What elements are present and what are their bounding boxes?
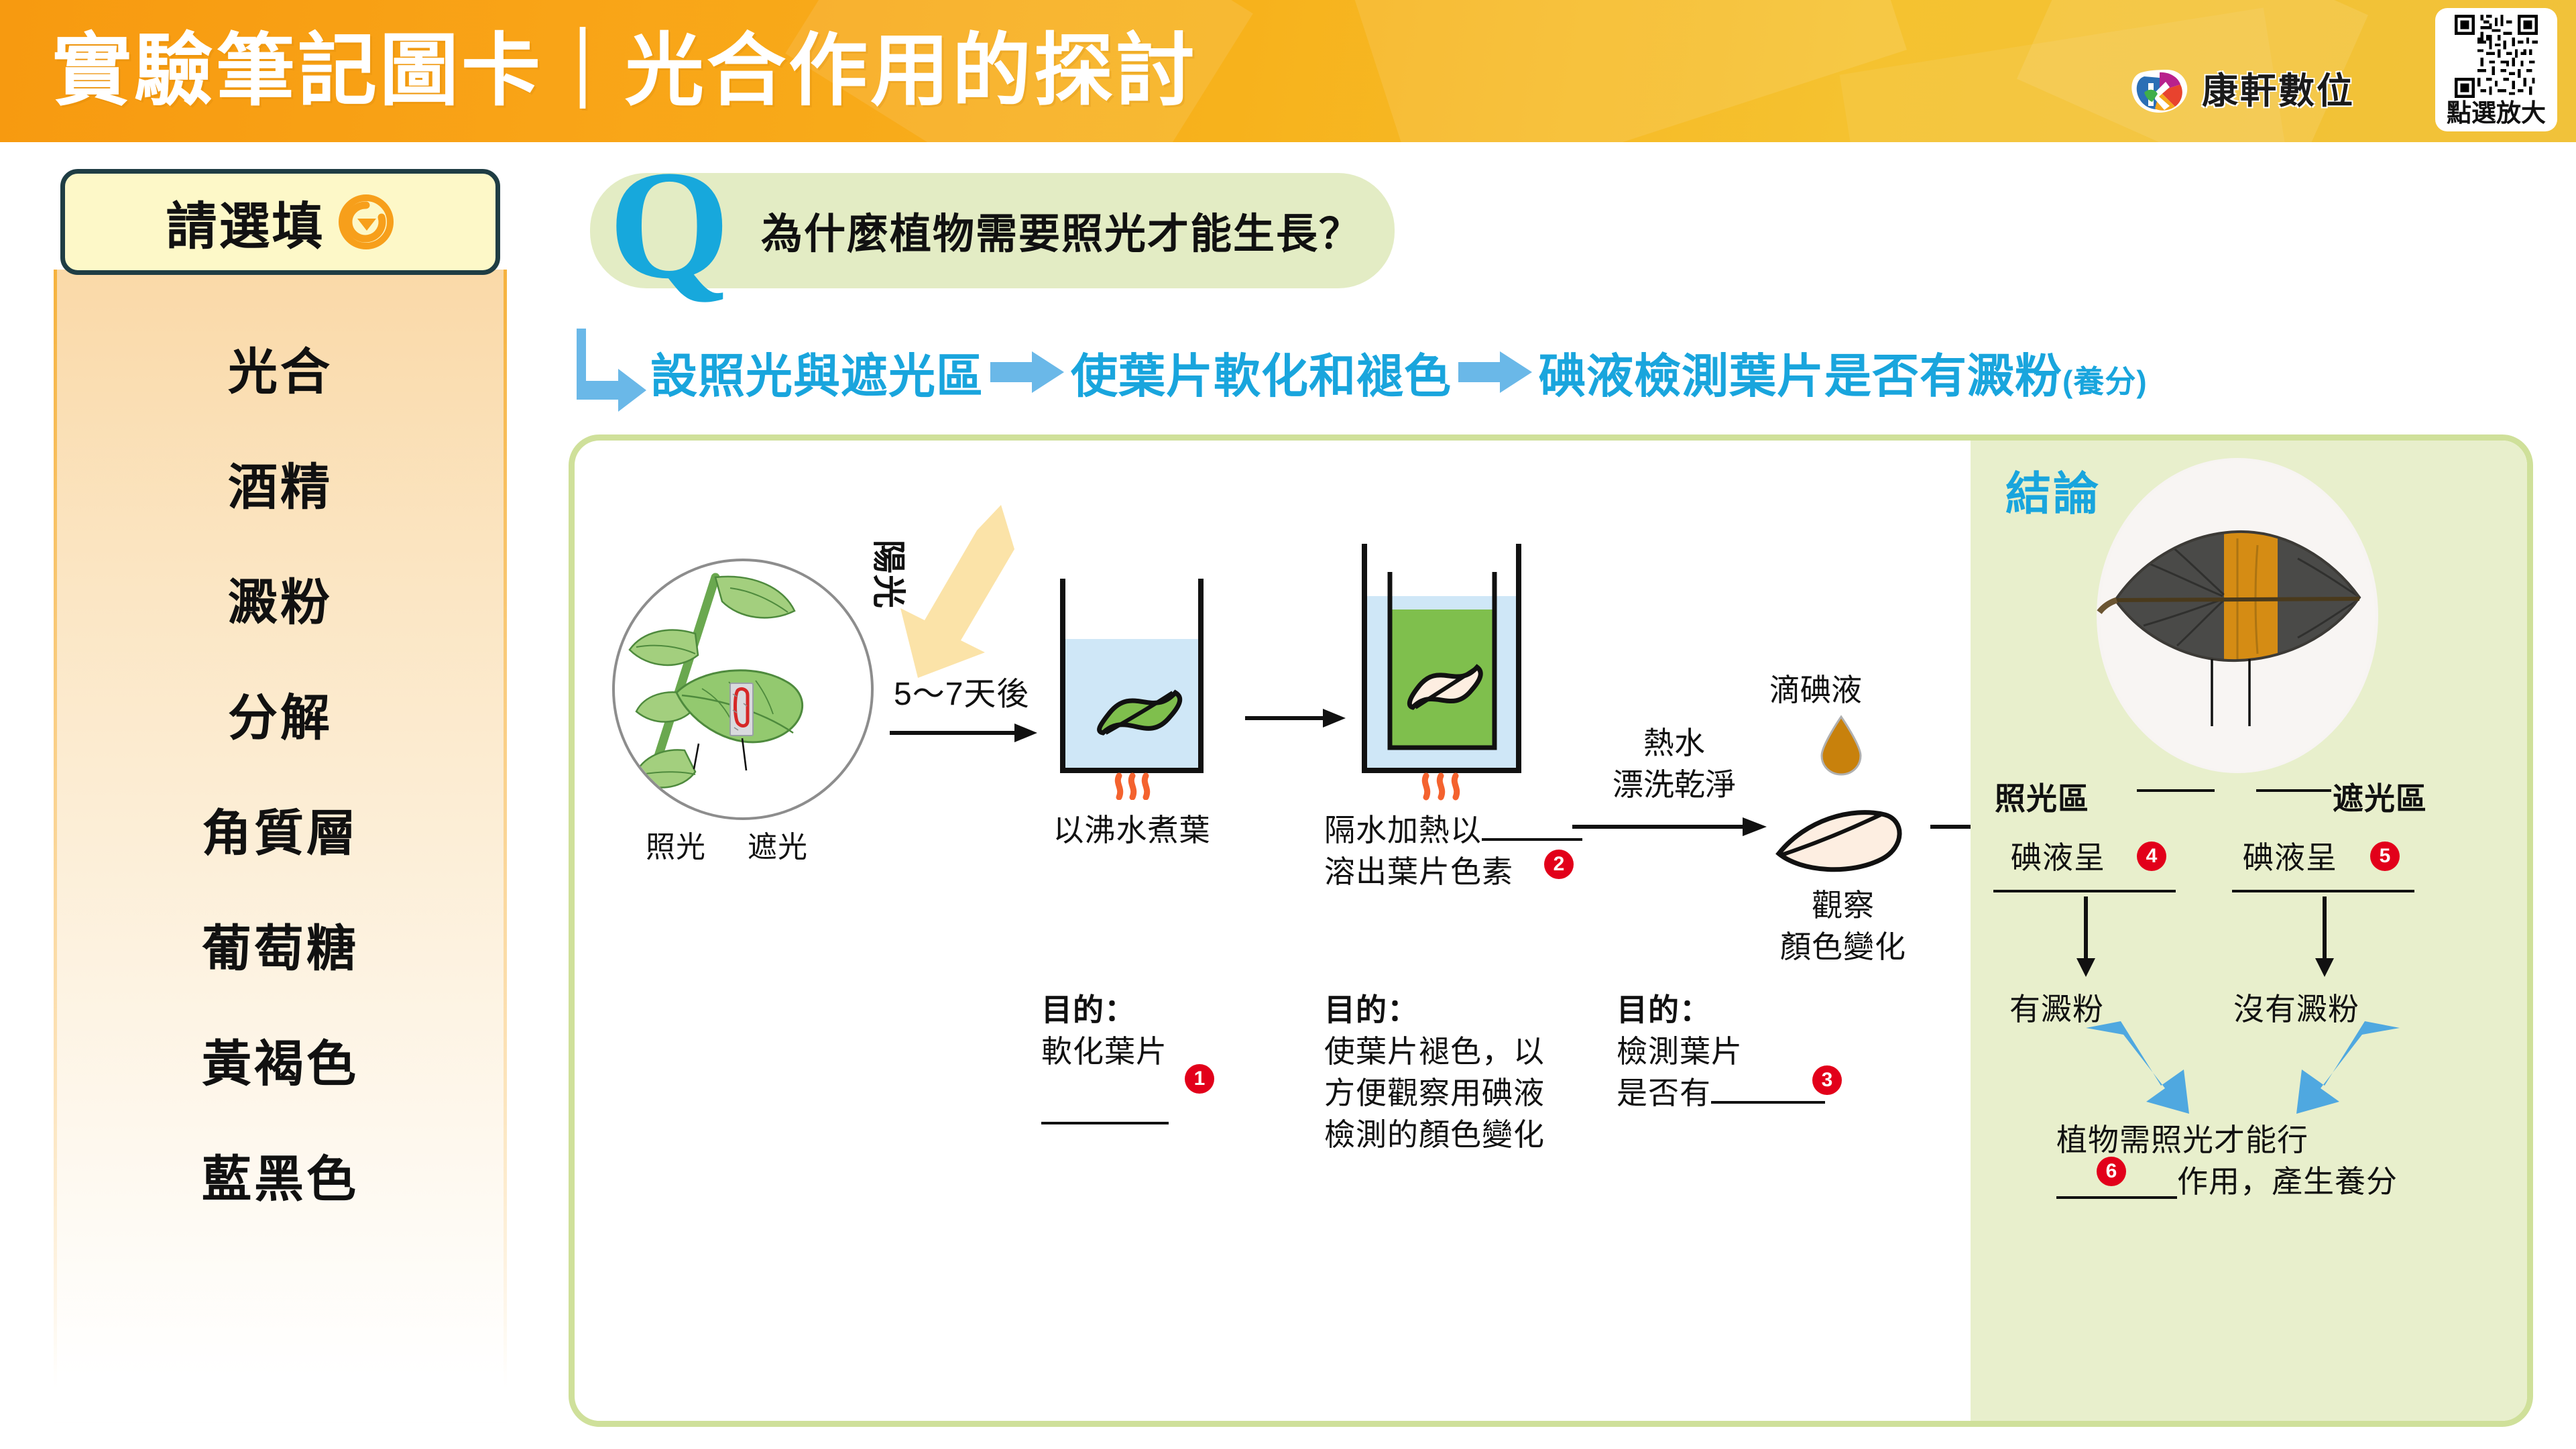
bleached-leaf-icon — [1767, 773, 1914, 880]
question-marker: Q — [609, 148, 729, 303]
arrow-right-icon — [1572, 813, 1767, 840]
arrow-right-icon — [890, 719, 1037, 746]
answer-bank-list: 光合 酒精 澱粉 分解 角質層 葡萄糖 黃褐色 藍黑色 — [54, 270, 507, 1423]
blank-number-5: 5 — [2370, 842, 2400, 871]
blank-number-6: 6 — [2097, 1157, 2126, 1186]
beaker-double-boiler — [1351, 538, 1532, 810]
step-label-1: 設照光與遮光區 — [650, 339, 984, 406]
kangxuan-logo-icon — [2128, 64, 2191, 118]
answer-option[interactable]: 分解 — [57, 656, 504, 771]
blank-answer-slot[interactable] — [2056, 1196, 2177, 1199]
converge-arrow-left-icon — [2082, 1021, 2216, 1115]
step-flow: 設照光與遮光區 使葉片軟化和褪色 碘液檢測葉片是否有澱粉(養分) — [577, 329, 2400, 416]
purpose-body-line: 方便觀察用碘液 — [1324, 1076, 1545, 1110]
purpose-block-3: 目的： 檢測葉片 是否有 — [1617, 989, 1885, 1114]
blank-answer-slot[interactable] — [1482, 838, 1582, 841]
duration-label: 5～7天後 — [894, 667, 1029, 714]
conclusion-panel: 結論 — [1971, 441, 2527, 1421]
transition-hotwater-label: 熱水 漂洗乾淨 — [1574, 722, 1775, 805]
leader-line — [2137, 789, 2215, 792]
arrow-down-icon — [2311, 896, 2338, 977]
answer-bank-sidebar: 光合 酒精 澱粉 分解 角質層 葡萄糖 黃褐色 藍黑色 請選填 — [54, 169, 507, 1430]
final-line-1: 植物需照光才能行 — [2056, 1122, 2308, 1157]
brand-name: 康軒數位 — [2202, 71, 2355, 111]
page-title: 實驗筆記圖卡｜光合作用的探討 — [52, 5, 1197, 137]
blank-answer-slot[interactable] — [1993, 890, 2176, 892]
purpose-block-1: 目的： 軟化葉片 — [1041, 989, 1229, 1124]
purpose-body-line: 是否有 — [1617, 1076, 1711, 1110]
purpose-body-line: 檢測的顏色變化 — [1324, 1117, 1545, 1152]
answer-option[interactable]: 澱粉 — [57, 540, 504, 656]
plant-closeup-illustration — [612, 559, 874, 820]
arrow-right-icon — [990, 351, 1064, 393]
stage-caption-1: 以沸水煮葉 — [1035, 809, 1229, 851]
blank-answer-slot[interactable] — [1711, 1101, 1825, 1104]
label-shaded-area: 遮光 — [748, 823, 808, 866]
purpose-title: 目的： — [1041, 992, 1136, 1027]
blank-answer-slot[interactable] — [1041, 1122, 1169, 1124]
stage-caption-3: 觀察 顏色變化 — [1743, 884, 1944, 968]
blank-number-2: 2 — [1544, 850, 1574, 879]
answer-option[interactable]: 角質層 — [57, 771, 504, 886]
answer-option[interactable]: 光合 — [57, 310, 504, 425]
branch-head-lit: 碘液呈 — [2011, 833, 2105, 878]
qr-code-icon — [2446, 15, 2546, 98]
arrow-right-icon — [1245, 705, 1346, 732]
purpose-body-line: 使葉片褪色，以 — [1324, 1034, 1545, 1069]
blank-number-3: 3 — [1812, 1065, 1842, 1095]
stained-leaf-photo — [2097, 458, 2378, 773]
step-label-3-sub: (養分) — [2062, 364, 2148, 399]
answer-option[interactable]: 葡萄糖 — [57, 886, 504, 1002]
label-lit-area: 照光 — [646, 823, 706, 866]
leader-line — [2256, 789, 2331, 792]
question-block: Q 為什麼植物需要照光才能生長？ — [590, 168, 1421, 294]
step-label-3: 碘液檢測葉片是否有澱粉(養分) — [1539, 339, 2148, 406]
blank-number-4: 4 — [2137, 842, 2166, 871]
brand: 康軒數位 — [2128, 64, 2355, 118]
sunlight-label: 陽光 — [867, 540, 915, 610]
iodine-label: 滴碘液 — [1769, 666, 1862, 710]
refresh-circle-icon[interactable] — [337, 193, 395, 251]
photo-label-lit: 照光區 — [1995, 774, 2089, 819]
arrow-down-icon — [2072, 896, 2099, 977]
answer-bank-title: 請選填 — [166, 185, 325, 259]
purpose-title: 目的： — [1324, 992, 1419, 1027]
app-header: 實驗筆記圖卡｜光合作用的探討 康軒數位 — [0, 0, 2576, 142]
experiment-flow: 陽光 — [575, 441, 1983, 1421]
purpose-body: 軟化葉片 — [1041, 1034, 1167, 1069]
qr-label: 點選放大 — [2447, 98, 2546, 129]
purpose-block-2: 目的： 使葉片褪色，以 方便觀察用碘液 檢測的顏色變化 — [1324, 989, 1606, 1155]
answer-option[interactable]: 酒精 — [57, 425, 504, 540]
answer-option[interactable]: 黃褐色 — [57, 1002, 504, 1117]
step-label-2: 使葉片軟化和褪色 — [1071, 339, 1452, 406]
qr-code-button[interactable]: 點選放大 — [2435, 8, 2557, 131]
header-facet — [1352, 0, 1907, 142]
arrow-right-icon — [1458, 351, 1532, 393]
beaker-boiling-water — [1048, 565, 1216, 803]
iodine-drop-icon — [1816, 714, 1866, 776]
blank-answer-slot[interactable] — [2232, 890, 2414, 892]
purpose-title: 目的： — [1617, 992, 1711, 1027]
converge-arrow-right-icon — [2270, 1021, 2404, 1115]
answer-option[interactable]: 藍黑色 — [57, 1117, 504, 1232]
final-line-2: 作用，產生養分 — [2177, 1164, 2398, 1199]
blank-number-1: 1 — [1185, 1064, 1214, 1094]
question-text: 為什麼植物需要照光才能生長？ — [761, 200, 1362, 260]
answer-bank-header: 請選填 — [60, 169, 500, 275]
experiment-panel: 陽光 — [569, 434, 2533, 1427]
photo-label-shaded: 遮光區 — [2333, 774, 2427, 819]
branch-head-shaded: 碘液呈 — [2243, 833, 2337, 878]
conclusion-title: 結論 — [2005, 457, 2101, 523]
elbow-arrow-icon — [577, 329, 650, 416]
purpose-body-line: 檢測葉片 — [1617, 1034, 1743, 1069]
